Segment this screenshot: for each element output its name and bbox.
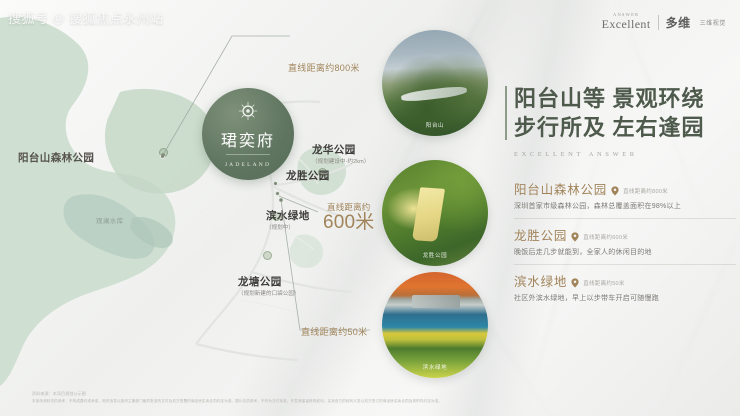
poi-item-longsheng[interactable]: 龙胜公园 直线距离约600米 晚饭后走几步就能到，全家人的休闲目的地 xyxy=(514,218,736,264)
map-label-sub: （规划建设中·约2km） xyxy=(312,159,369,165)
map-label-title: 龙胜公园 xyxy=(286,170,330,182)
map-label-yangtaishan[interactable]: 阳台山森林公园 xyxy=(18,148,94,167)
distance-callout-50: 直线距离约50米 xyxy=(301,322,367,340)
map-label-binshui[interactable]: 滨水绿地 （规划中） xyxy=(266,206,310,232)
map-dot-yangtaishan[interactable] xyxy=(160,154,165,159)
poi-distance: 直线距离约50米 xyxy=(583,279,625,287)
distance-callout-800: 直线距离约800米 xyxy=(288,58,360,76)
poi-description: 社区外滨水绿地，早上以步带车开启可随慢跑 xyxy=(514,293,736,303)
map-label-longtang[interactable]: 龙塘公园 （规划新建的口袋公园） xyxy=(238,272,300,298)
map-pin-icon xyxy=(611,186,619,196)
footnote-line-2: 本宣传资料仅供参考，不构成要约或承诺，相关信息以政府主管部门最终批准的文件及双方… xyxy=(32,399,672,404)
map-poi-longtang[interactable] xyxy=(263,251,272,260)
map-dot-longsheng[interactable] xyxy=(273,181,278,186)
poi-description: 晚饭后走几步就能到，全家人的休闲目的地 xyxy=(514,247,736,257)
poi-distance: 直线距离约600米 xyxy=(583,233,628,241)
map-pin-icon xyxy=(571,278,579,288)
map-greenspace-core xyxy=(105,89,216,194)
poi-name: 阳台山森林公园 xyxy=(514,179,607,198)
poi-distance: 直线距离约800米 xyxy=(623,187,668,195)
distance-callout-600: 直线距离约 600米 xyxy=(323,201,375,233)
logo-brand-cn-sub: 三维视觉 xyxy=(700,18,726,27)
brand-name-en: JADELAND xyxy=(225,162,271,168)
map-label-title: 阳台山森林公园 xyxy=(18,152,94,164)
photo-park-monument[interactable]: 龙胜公园 xyxy=(382,160,488,266)
watermark-site: 搜狐焦点永州站 xyxy=(69,8,164,27)
poi-head: 滨水绿地 直线距离约50米 xyxy=(514,271,736,290)
logo-brand-cn: 多维 xyxy=(666,14,691,31)
distance-text: 直线距离约800米 xyxy=(288,63,360,73)
developer-logo[interactable]: ANSWER Excellent 多维 三维视觉 xyxy=(602,12,726,32)
poi-item-binshui[interactable]: 滨水绿地 直线距离约50米 社区外滨水绿地，早上以步带车开启可随慢跑 xyxy=(514,264,736,310)
map-label-longsheng[interactable]: 龙胜公园 xyxy=(286,166,330,185)
poi-item-yangtaishan[interactable]: 阳台山森林公园 直线距离约800米 深圳首家市级森林公园，森林总覆盖面积在98%… xyxy=(514,173,736,218)
legal-footnote: 资料来源：本项目规划公示图 本宣传资料仅供参考，不构成要约或承诺，相关信息以政府… xyxy=(32,391,672,404)
poi-name: 滨水绿地 xyxy=(514,271,567,290)
distance-value: 600米 xyxy=(323,213,375,233)
distance-text: 直线距离约50米 xyxy=(301,327,367,337)
map-label-reservoir[interactable]: 观澜水库 xyxy=(96,210,124,228)
poi-description: 深圳首家市级森林公园，森林总覆盖面积在98%以上 xyxy=(514,201,736,211)
jade-seal-icon xyxy=(237,100,259,122)
project-brand-badge[interactable]: 珺奕府 JADELAND xyxy=(202,88,294,180)
headline-line-2: 步行所及 左右逢园 xyxy=(514,113,705,142)
poi-list: 阳台山森林公园 直线距离约800米 深圳首家市级森林公园，森林总覆盖面积在98%… xyxy=(514,173,736,310)
photo-waterfront-green[interactable]: 滨水绿地 xyxy=(382,272,488,378)
map-label-title: 观澜水库 xyxy=(96,218,124,225)
poi-head: 阳台山森林公园 直线距离约800米 xyxy=(514,179,736,198)
logo-excellent-text: Excellent xyxy=(602,17,651,32)
logo-divider xyxy=(658,15,659,30)
map-label-sub: （规划中） xyxy=(266,225,310,231)
map-label-title: 龙塘公园 xyxy=(238,276,282,288)
map-greenspace-south xyxy=(290,234,323,268)
poi-head: 龙胜公园 直线距离约600米 xyxy=(514,225,736,244)
map-pin-icon xyxy=(571,232,579,242)
footnote-line-1: 资料来源：本项目规划公示图 xyxy=(32,391,672,397)
logo-excellent-block: ANSWER Excellent xyxy=(602,12,651,32)
sohu-watermark: 搜狐号 @ 搜狐焦点永州站 xyxy=(8,8,164,27)
watermark-at: @ xyxy=(53,11,66,25)
photo-caption: 龙胜公园 xyxy=(382,251,488,259)
poi-name: 龙胜公园 xyxy=(514,225,567,244)
brand-name-cn: 珺奕府 xyxy=(221,127,275,151)
map-dot-binshui[interactable] xyxy=(275,191,280,196)
headline-subtitle: EXCELLENT ANSWER xyxy=(514,151,705,158)
map-label-longhua[interactable]: 龙华公园 （规划建设中·约2km） xyxy=(312,140,369,166)
map-label-title: 龙华公园 xyxy=(312,144,356,156)
photo-caption: 阳台山 xyxy=(382,121,488,129)
headline-line-1: 阳台山等 景观环绕 xyxy=(514,84,705,113)
map-label-title: 滨水绿地 xyxy=(266,210,310,222)
watermark-prefix: 搜狐号 xyxy=(8,8,49,27)
photo-caption: 滨水绿地 xyxy=(382,363,488,371)
headline-block: 阳台山等 景观环绕 步行所及 左右逢园 EXCELLENT ANSWER xyxy=(514,84,705,158)
poster-canvas: 阳台山森林公园 龙华公园 （规划建设中·约2km） 龙胜公园 滨水绿地 （规划中… xyxy=(0,0,740,416)
map-label-sub: （规划新建的口袋公园） xyxy=(238,291,300,297)
brand-divider xyxy=(226,154,270,155)
photo-aerial-forest[interactable]: 阳台山 xyxy=(382,30,488,136)
headline-accent-bar xyxy=(505,86,507,140)
